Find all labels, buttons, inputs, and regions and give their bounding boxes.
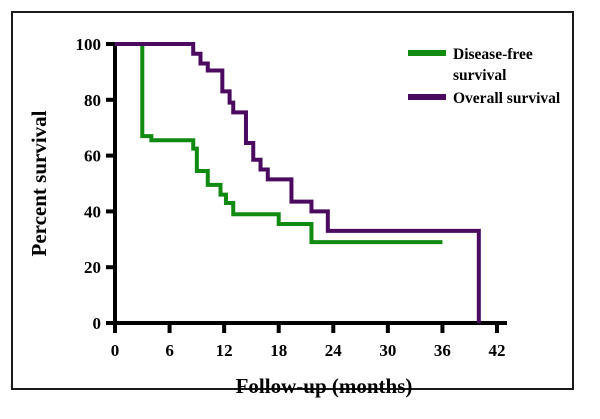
survival-chart-figure: 02040608010006121824303642Follow-up (mon…	[0, 0, 600, 419]
x-tick-label-24: 24	[325, 341, 343, 360]
legend-label-disease-free-survival: survival	[453, 67, 507, 84]
x-tick-label-30: 30	[379, 341, 396, 360]
x-tick-label-0: 0	[111, 341, 120, 360]
plot-area: 02040608010006121824303642Follow-up (mon…	[0, 0, 600, 419]
y-axis-title: Percent survival	[27, 110, 51, 256]
x-tick-label-12: 12	[216, 341, 233, 360]
x-axis-title: Follow-up (months)	[236, 374, 413, 398]
y-tick-label-40: 40	[84, 202, 101, 221]
y-tick-label-20: 20	[84, 258, 101, 277]
x-tick-label-18: 18	[270, 341, 287, 360]
series-layer	[115, 44, 479, 323]
series-line-disease-free-survival	[115, 44, 442, 242]
y-tick-label-80: 80	[84, 91, 101, 110]
axis-labels-layer: 02040608010006121824303642Follow-up (mon…	[27, 35, 506, 398]
legend-label-overall-survival: Overall survival	[453, 90, 561, 107]
y-tick-label-0: 0	[93, 314, 102, 333]
legend-label-disease-free-survival: Disease-free	[453, 46, 533, 63]
y-tick-label-60: 60	[84, 147, 101, 166]
y-tick-label-100: 100	[76, 35, 102, 54]
x-tick-label-6: 6	[165, 341, 174, 360]
x-tick-label-36: 36	[434, 341, 451, 360]
legend: Disease-freesurvivalOverall survival	[408, 46, 561, 107]
x-tick-label-42: 42	[489, 341, 506, 360]
series-line-overall-survival	[115, 44, 479, 323]
axes-layer	[106, 42, 507, 333]
